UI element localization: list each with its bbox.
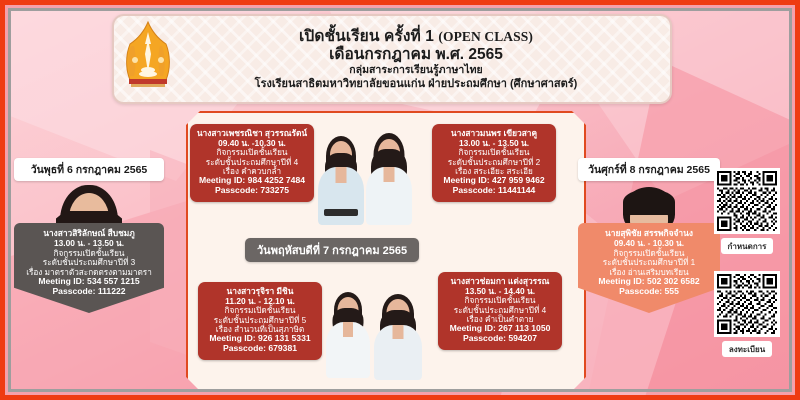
session-time: 13.50 น. - 14.40 น. xyxy=(444,287,556,297)
qr-code-column: กำหนดการ xyxy=(710,168,784,357)
photo-teacher-phetchaya xyxy=(318,133,364,225)
wednesday-column: วันพุธที่ 6 กรกฎาคม 2565 นางสาวสิริลักษณ… xyxy=(14,158,164,313)
session-passcode: Passcode: 555 xyxy=(585,287,713,297)
session-activity: กิจกรรมเปิดชั้นเรียน xyxy=(196,148,308,157)
session-level: ระดับชั้นประถมศึกษาปีที่ 3 xyxy=(21,258,157,268)
friday-column: วันศุกร์ที่ 8 กรกฎาคม 2565 นายสุพิชัย สร… xyxy=(578,158,720,313)
session-level: ระดับชั้นประถมศึกษาปีที่ 4 xyxy=(444,306,556,315)
session-activity: กิจกรรมเปิดชั้นเรียน xyxy=(585,249,713,259)
header-line-2: เดือนกรกฎาคม พ.ศ. 2565 xyxy=(174,46,658,63)
session-time: 13.00 น. - 13.50 น. xyxy=(21,239,157,249)
photo-teacher-chorraka xyxy=(374,292,422,378)
thursday-date-banner: วันพฤหัสบดีที่ 7 กรกฎาคม 2565 xyxy=(245,238,419,262)
session-time: 09.40 น. -10.30 น. xyxy=(196,139,308,149)
session-card-monnaphon[interactable]: นางสาวมนพร เขียวสาคู 13.00 น. - 13.50 น.… xyxy=(432,124,556,202)
photo-teacher-monnaphon xyxy=(366,131,412,225)
session-activity: กิจกรรมเปิดชั้นเรียน xyxy=(21,249,157,259)
schedule-qr-icon[interactable] xyxy=(714,168,780,234)
session-card-phetchaya[interactable]: นางสาวเพชรณิชา สุวรรณรัตน์ 09.40 น. -10.… xyxy=(190,124,314,202)
schedule-qr-label: กำหนดการ xyxy=(721,238,774,254)
session-card-wutjira[interactable]: นางสาวรุจิรา มีชิน 11.20 น. - 12.10 น. ก… xyxy=(198,282,322,360)
header-line-1: เปิดชั้นเรียน ครั้งที่ 1 (OPEN CLASS) xyxy=(174,28,658,45)
session-level: ระดับชั้นประถมศึกษาปีที่ 5 xyxy=(204,316,316,325)
session-activity: กิจกรรมเปิดชั้นเรียน xyxy=(204,306,316,315)
session-activity: กิจกรรมเปิดชั้นเรียน xyxy=(438,148,550,157)
session-passcode: Passcode: 111222 xyxy=(21,287,157,297)
register-qr-label: ลงทะเบียน xyxy=(722,341,772,357)
register-qr-icon[interactable] xyxy=(714,271,780,337)
session-level: ระดับชั้นประถมศึกษาปีที่ 2 xyxy=(438,158,550,167)
session-level: ระดับชั้นประถมศึกษาปีที่ 1 xyxy=(585,258,713,268)
friday-date-chip: วันศุกร์ที่ 8 กรกฎาคม 2565 xyxy=(578,158,720,181)
photo-teacher-wutjira xyxy=(326,290,370,378)
header-text-block: เปิดชั้นเรียน ครั้งที่ 1 (OPEN CLASS) เด… xyxy=(174,28,670,91)
session-passcode: Passcode: 594207 xyxy=(444,334,556,344)
wednesday-session-card[interactable]: นางสาวสิริลักษณ์ สืบชมภู 13.00 น. - 13.5… xyxy=(14,223,164,313)
khon-kaen-university-emblem-icon xyxy=(122,20,174,98)
session-card-chorraka[interactable]: นางสาวช่อมกา แต่งสุวรรณ 13.50 น. - 14.40… xyxy=(438,272,562,350)
session-passcode: Passcode: 733275 xyxy=(196,186,308,196)
header-line-3: กลุ่มสาระการเรียนรู้ภาษาไทย xyxy=(174,65,658,77)
session-time: 11.20 น. - 12.10 น. xyxy=(204,297,316,307)
session-time: 09.40 น. - 10.30 น. xyxy=(585,239,713,249)
header-line-4: โรงเรียนสาธิตมหาวิทยาลัยขอนแก่น ฝ่ายประถ… xyxy=(174,78,658,90)
session-level: ระดับชั้นประถมศึกษาปีที่ 4 xyxy=(196,158,308,167)
session-activity: กิจกรรมเปิดชั้นเรียน xyxy=(444,296,556,305)
header-banner: เปิดชั้นเรียน ครั้งที่ 1 (OPEN CLASS) เด… xyxy=(112,14,672,104)
wednesday-date-chip: วันพุธที่ 6 กรกฎาคม 2565 xyxy=(14,158,164,181)
open-class-poster: เปิดชั้นเรียน ครั้งที่ 1 (OPEN CLASS) เด… xyxy=(0,0,800,400)
qr-spacer xyxy=(710,254,784,271)
session-passcode: Passcode: 11441144 xyxy=(438,186,550,196)
friday-session-card[interactable]: นายสุพิชัย สรรพกิจจำนง 09.40 น. - 10.30 … xyxy=(578,223,720,313)
session-time: 13.00 น. - 13.50 น. xyxy=(438,139,550,149)
session-passcode: Passcode: 679381 xyxy=(204,344,316,354)
